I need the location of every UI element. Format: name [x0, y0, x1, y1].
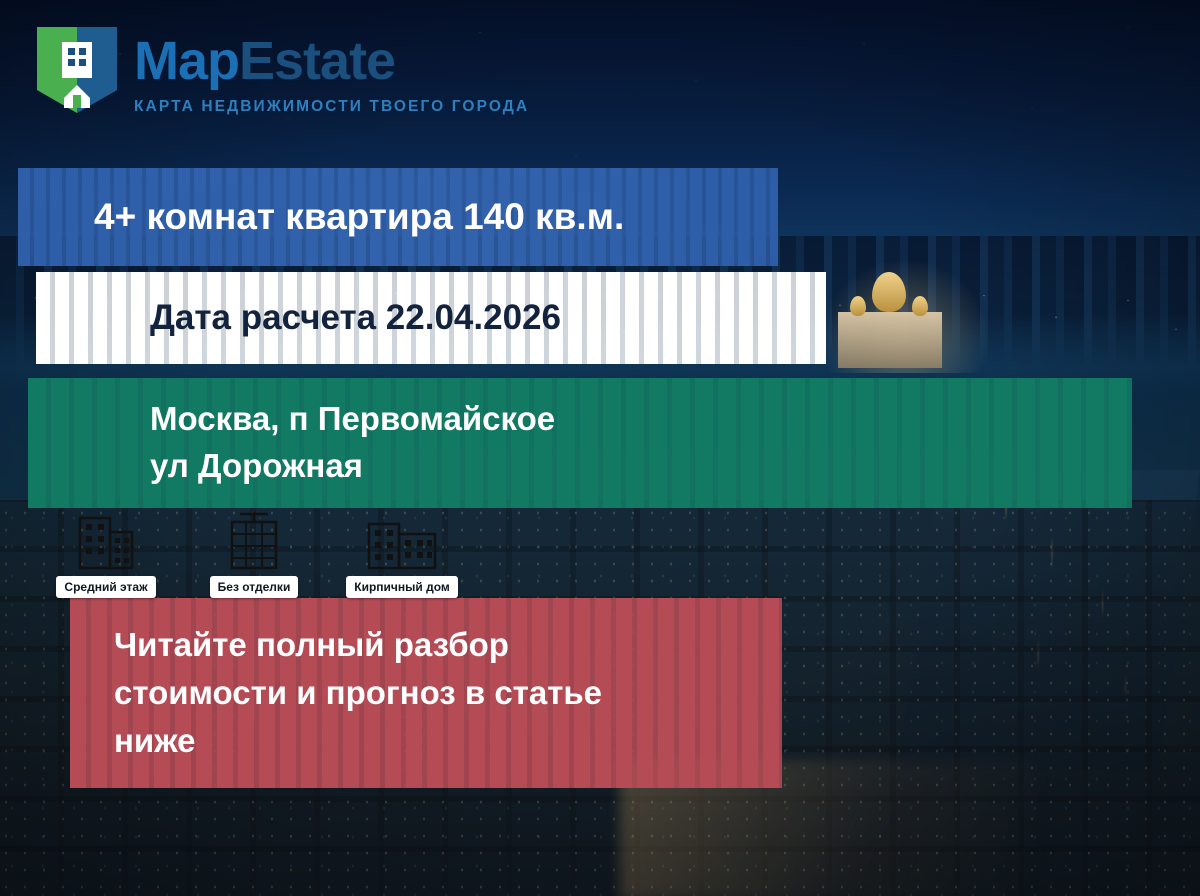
cathedral-dome-main — [872, 272, 906, 312]
cathedral-dome-left — [850, 296, 866, 316]
address-banner: Москва, п Первомайское ул Дорожная — [28, 378, 1132, 508]
calculation-date-banner: Дата расчета 22.04.2026 — [36, 272, 826, 364]
cta-text: Читайте полный разбор стоимости и прогно… — [114, 621, 602, 766]
brand-name-part2: Estate — [239, 31, 395, 91]
address-line-2: ул Дорожная — [150, 443, 555, 490]
promo-poster: MapEstate КАРТА НЕДВИЖИМОСТИ ТВОЕГО ГОРО… — [0, 0, 1200, 896]
cta-line-2: стоимости и прогноз в статье — [114, 669, 602, 717]
unfinished-building-icon — [218, 508, 290, 572]
feature-item: Кирпичный дом — [342, 508, 462, 598]
feature-label: Кирпичный дом — [346, 576, 458, 598]
cta-banner: Читайте полный разбор стоимости и прогно… — [70, 598, 782, 788]
address-block: Москва, п Первомайское ул Дорожная — [150, 396, 555, 490]
brand-wordmark: MapEstate КАРТА НЕДВИЖИМОСТИ ТВОЕГО ГОРО… — [134, 24, 529, 116]
property-title-banner: 4+ комнат квартира 140 кв.м. — [18, 168, 778, 266]
cta-line-1: Читайте полный разбор — [114, 621, 602, 669]
map-estate-logo-icon — [34, 24, 120, 116]
feature-badges: Средний этаж Без отделки — [46, 508, 462, 598]
brand-name: MapEstate — [134, 34, 529, 88]
mid-floor-building-icon — [70, 508, 142, 572]
brand-logo[interactable]: MapEstate КАРТА НЕДВИЖИМОСТИ ТВОЕГО ГОРО… — [34, 24, 529, 116]
calculation-date: Дата расчета 22.04.2026 — [150, 298, 561, 338]
brand-tagline: КАРТА НЕДВИЖИМОСТИ ТВОЕГО ГОРОДА — [134, 98, 529, 116]
address-line-1: Москва, п Первомайское — [150, 396, 555, 443]
cathedral-body — [838, 312, 942, 368]
feature-item: Средний этаж — [46, 508, 166, 598]
cathedral-dome-right — [912, 296, 928, 316]
feature-label: Средний этаж — [56, 576, 155, 598]
feature-label: Без отделки — [210, 576, 299, 598]
feature-item: Без отделки — [194, 508, 314, 598]
brick-house-icon — [361, 508, 443, 572]
property-title: 4+ комнат квартира 140 кв.м. — [94, 196, 624, 238]
brand-name-part1: Map — [134, 31, 239, 91]
cta-line-3: ниже — [114, 717, 602, 765]
